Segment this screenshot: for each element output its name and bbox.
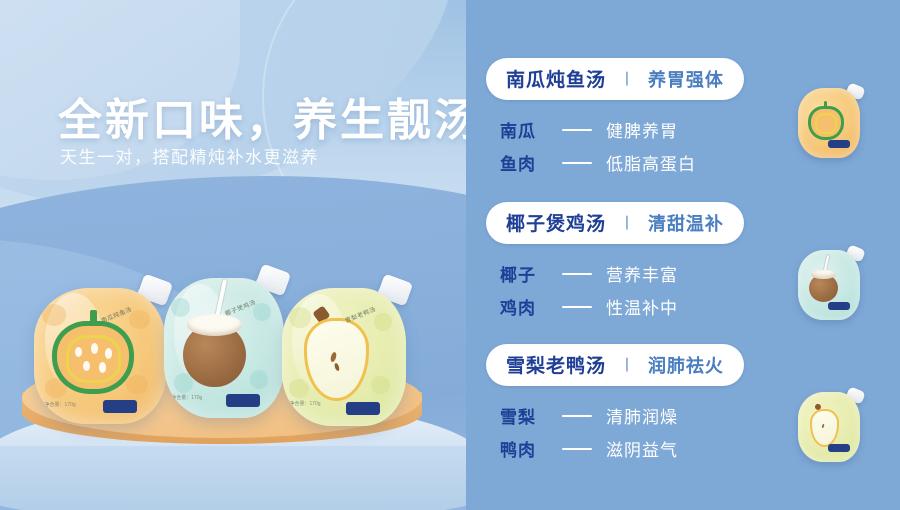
- pedestal-base-side: [0, 446, 466, 510]
- section-subtitle: 养胃强体: [648, 70, 724, 90]
- mini-pear-pouch: [798, 392, 860, 462]
- dash-separator: [562, 306, 592, 308]
- hero-subline: 天生一对，搭配精炖补水更滋养: [60, 143, 319, 168]
- ingredient-name: 雪梨: [500, 403, 552, 428]
- info-panel: 南瓜炖鱼汤 丨 养胃强体 南瓜 健脾养胃 鱼肉 低脂高蛋白 椰子煲鸡: [466, 0, 900, 510]
- benefit-text: 健脾养胃: [606, 117, 678, 142]
- pouch-body: 椰子煲鸡汤 净含量：170g: [164, 278, 284, 418]
- mini-coconut-pouch: [798, 250, 860, 320]
- pear-seed-icon: [822, 424, 825, 429]
- dash-separator: [562, 162, 592, 164]
- ingredient-name: 鱼肉: [500, 150, 552, 175]
- hero-headline: 全新口味，养生靓汤: [58, 84, 466, 148]
- pumpkin-inner-icon: [815, 113, 838, 134]
- section-subtitle: 清甜温补: [648, 214, 724, 234]
- pouch-pattern-dot: [250, 370, 268, 388]
- benefit-text: 滋阴益气: [606, 436, 678, 461]
- pouch-arc-text: 椰子煲鸡汤: [223, 297, 257, 318]
- pouch-body: 南瓜炖鱼汤 净含量：170g: [34, 288, 166, 424]
- hero-scene: 全新口味，养生靓汤 天生一对，搭配精炖补水更滋养: [0, 0, 466, 510]
- pumpkin-illustration: [808, 106, 844, 140]
- pouch-pattern-dot: [374, 313, 393, 331]
- pear-seed-icon: [334, 362, 341, 371]
- dash-separator: [562, 415, 592, 417]
- pouch-brand-label: [828, 302, 850, 310]
- pouch-pattern-dot: [371, 376, 390, 394]
- pouch-net-weight: 净含量：170g: [289, 400, 320, 407]
- section-title-badge: 南瓜炖鱼汤 丨 养胃强体: [486, 58, 744, 100]
- promo-banner: 全新口味，养生靓汤 天生一对，搭配精炖补水更滋养: [0, 0, 900, 510]
- pear-shape-icon: [810, 409, 839, 447]
- title-separator: 丨: [619, 71, 634, 88]
- benefit-text: 性温补中: [606, 294, 678, 319]
- pumpkin-pouch: 南瓜炖鱼汤 净含量：170g: [34, 288, 166, 424]
- section-title: 南瓜炖鱼汤: [506, 70, 606, 91]
- section-subtitle: 润肺祛火: [648, 356, 724, 376]
- pouch-brand-label: [103, 400, 137, 413]
- benefit-text: 清肺润燥: [606, 403, 678, 428]
- coconut-illustration: [809, 274, 838, 302]
- pumpkin-illustration: [52, 321, 134, 394]
- pear-seed-icon: [329, 352, 336, 363]
- pouch-brand-label: [226, 394, 260, 407]
- pumpkin-seed-icon: [91, 343, 98, 353]
- dash-separator: [562, 448, 592, 450]
- ingredient-name: 南瓜: [500, 117, 552, 142]
- pouch-body: [798, 250, 860, 320]
- ingredient-name: 鸡肉: [500, 294, 552, 319]
- pouch-body: [798, 88, 860, 158]
- pumpkin-shape-icon: [808, 106, 844, 140]
- pouch-net-weight: 净含量：170g: [171, 394, 202, 401]
- dash-separator: [562, 273, 592, 275]
- pear-shape-icon: [304, 318, 368, 401]
- pumpkin-inner-icon: [66, 335, 121, 383]
- pouch-body: 雪梨老鸭汤 净含量：170g: [282, 288, 406, 426]
- pouch-body: [798, 392, 860, 462]
- section-title-badge: 雪梨老鸭汤 丨 润肺祛火: [486, 344, 744, 386]
- pouch-net-weight: 净含量：170g: [45, 401, 76, 408]
- benefit-text: 低脂高蛋白: [606, 150, 696, 175]
- pumpkin-shape-icon: [52, 321, 134, 394]
- section-title: 椰子煲鸡汤: [506, 214, 606, 235]
- coconut-illustration: [183, 323, 245, 387]
- dash-separator: [562, 129, 592, 131]
- pear-illustration: [810, 409, 839, 447]
- pear-pouch: 雪梨老鸭汤 净含量：170g: [282, 288, 406, 426]
- ingredient-name: 椰子: [500, 261, 552, 286]
- coconut-flesh-icon: [187, 314, 242, 336]
- pumpkin-seed-icon: [99, 362, 106, 372]
- coconut-pouch: 椰子煲鸡汤 净含量：170g: [164, 278, 284, 418]
- pouch-brand-label: [828, 140, 850, 148]
- pear-illustration: [304, 318, 368, 401]
- title-separator: 丨: [619, 215, 634, 232]
- pumpkin-seed-icon: [105, 348, 112, 358]
- section-title: 雪梨老鸭汤: [506, 356, 606, 377]
- pouch-brand-label: [346, 402, 380, 415]
- benefit-text: 营养丰富: [606, 261, 678, 286]
- title-separator: 丨: [619, 357, 634, 374]
- section-title-badge: 椰子煲鸡汤 丨 清甜温补: [486, 202, 744, 244]
- ingredient-name: 鸭肉: [500, 436, 552, 461]
- pouch-brand-label: [828, 444, 850, 452]
- mini-pumpkin-pouch: [798, 88, 860, 158]
